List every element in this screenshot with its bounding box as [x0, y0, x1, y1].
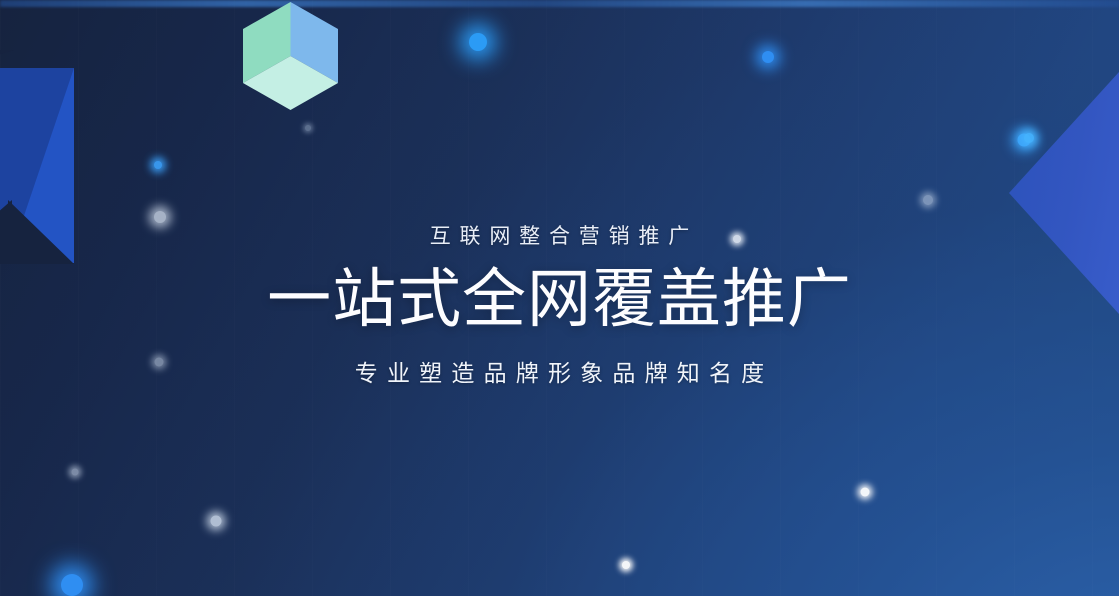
hero-banner: 互联网整合营销推广 一站式全网覆盖推广 专业塑造品牌形象品牌知名度	[0, 0, 1119, 596]
hero-headline-text: 一站式全网覆盖推广	[0, 265, 1119, 334]
glow-dot	[861, 488, 870, 497]
top-edge-glow	[0, 0, 1119, 7]
hero-copy-block: 互联网整合营销推广 一站式全网覆盖推广 专业塑造品牌形象品牌知名度	[0, 224, 1119, 388]
glow-dot	[1024, 133, 1034, 143]
glow-dot	[305, 125, 311, 131]
glow-dot	[154, 161, 162, 169]
glow-dot	[154, 211, 166, 223]
hero-tagline-text: 专业塑造品牌形象品牌知名度	[0, 360, 1119, 388]
glow-dot	[72, 469, 79, 476]
glow-dot	[61, 574, 83, 596]
glow-dot	[923, 195, 933, 205]
glow-dot	[622, 561, 630, 569]
hero-eyebrow-text: 互联网整合营销推广	[0, 224, 1119, 249]
isometric-cube-logo	[243, 2, 338, 110]
glow-dot	[762, 51, 774, 63]
glow-dot	[211, 516, 222, 527]
glow-dot	[469, 33, 487, 51]
